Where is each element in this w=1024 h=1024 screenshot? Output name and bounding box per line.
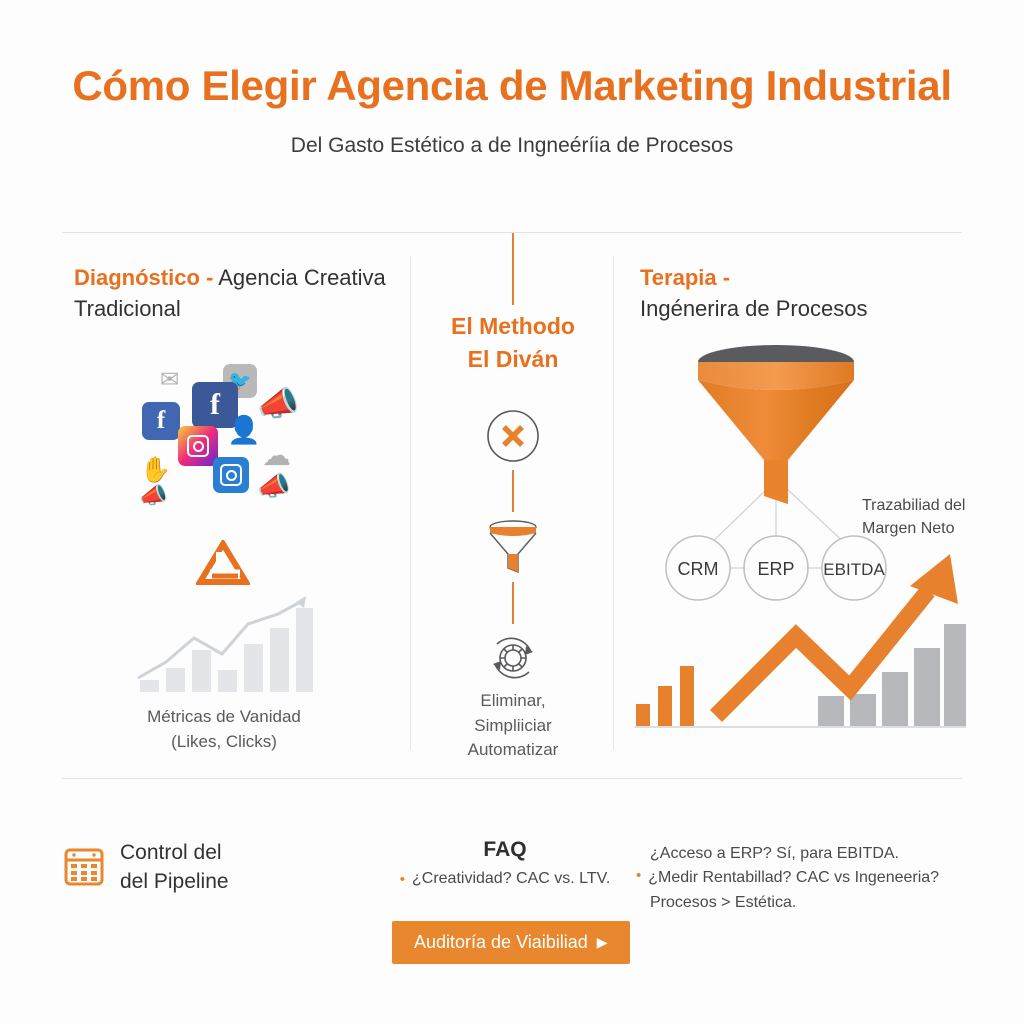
play-arrow-icon: ▶ — [597, 934, 608, 951]
column-terapia: Terapia - Ingénerira de Procesos — [640, 262, 970, 324]
mid-caption-line1: Eliminar, — [480, 691, 545, 710]
pipeline-label: Control del del Pipeline — [120, 838, 229, 897]
method-step-stack — [424, 408, 602, 686]
column-right-heading-rest: Ingénerira de Procesos — [640, 296, 867, 321]
faq-right-text-1: ¿Acceso a ERP? Sí, para EBITDA. — [650, 842, 899, 866]
simplify-step — [424, 518, 602, 576]
column-mid-heading-line2: El Diván — [468, 346, 559, 372]
header: Cómo Elegir Agencia de Marketing Industr… — [62, 60, 962, 158]
delta-triangle-logo — [196, 540, 250, 591]
pipeline-line1: Control del — [120, 841, 222, 864]
process-funnel-diagram: CRM ERP EBITDA — [628, 336, 968, 761]
left-column-caption: Métricas de Vanidad (Likes, Clicks) — [74, 705, 374, 754]
column-right-heading: Terapia - Ingénerira de Procesos — [640, 262, 970, 324]
funnel-icon — [482, 518, 544, 576]
traceability-label: Trazabiliad del Margen Neto — [862, 494, 992, 540]
megaphone-icon-3: 📣 — [139, 482, 168, 509]
social-icon-cloud: ✉ 🐦 f f 📣 👤 ☁ ✋ 📣 📣 — [130, 360, 325, 525]
instagram-icon-gradient — [178, 426, 218, 466]
page-title: Cómo Elegir Agencia de Marketing Industr… — [62, 60, 962, 112]
column-metodo: El Methodo El Diván — [424, 262, 602, 375]
infographic-canvas: Cómo Elegir Agencia de Marketing Industr… — [0, 0, 1024, 1024]
mid-caption-line2: Simpliiciar — [474, 716, 551, 735]
faq-right-text-3: Procesos > Estética. — [650, 891, 796, 915]
column-mid-heading-line1: El Methodo — [451, 313, 575, 339]
automate-step — [424, 630, 602, 686]
mid-caption-line3: Automatizar — [468, 740, 559, 759]
vanity-metrics-chart — [136, 592, 316, 697]
faq-item-text: ¿Creatividad? CAC vs. LTV. — [412, 870, 610, 890]
faq-right-text-2: ¿Medir Rentabillad? CAC vs Ingeneeria? — [648, 866, 939, 890]
faq-title: FAQ — [380, 838, 630, 862]
facebook-icon-small: f — [142, 402, 180, 440]
left-caption-line2: (Likes, Clicks) — [171, 732, 277, 751]
column-left-heading: Diagnóstico - Agencia Creativa Tradicion… — [74, 262, 394, 324]
faq-right-line-1: ¿Acceso a ERP? Sí, para EBITDA. — [636, 842, 972, 866]
hand-icon: ✋ — [140, 456, 171, 485]
column-divider-right — [613, 256, 614, 750]
faq-item: • ¿Creatividad? CAC vs. LTV. — [380, 870, 630, 890]
column-divider-left — [410, 256, 411, 750]
bullet-icon: • — [400, 870, 405, 890]
column-right-heading-accent: Terapia - — [640, 265, 730, 290]
cloud-icon: ☁ — [262, 438, 291, 473]
mid-column-caption: Eliminar, Simpliiciar Automatizar — [424, 689, 602, 763]
eliminate-step — [424, 408, 602, 464]
bottom-divider — [62, 778, 962, 779]
bullet-icon-2: • — [636, 866, 641, 890]
faq-right-block: ¿Acceso a ERP? Sí, para EBITDA. • ¿Medir… — [636, 842, 972, 915]
x-circle-icon — [485, 408, 541, 464]
gear-refresh-icon — [485, 630, 541, 686]
cta-label: Auditoría de Viaibiliad — [414, 932, 588, 953]
trace-label-line1: Trazabiliad del — [862, 497, 965, 514]
node-crm-label: CRM — [678, 559, 719, 579]
pipeline-control-block: Control del del Pipeline — [64, 838, 229, 897]
megaphone-icon: 📣 — [257, 384, 299, 424]
instagram-icon-blue — [213, 457, 249, 493]
mail-icon: ✉ — [160, 366, 179, 393]
person-icon: 👤 — [227, 414, 261, 446]
faq-right-line-2: • ¿Medir Rentabillad? CAC vs Ingeneeria? — [636, 866, 972, 890]
step-connector-1 — [512, 470, 514, 512]
node-ebitda-label: EBITDA — [823, 560, 885, 579]
faq-right-line-3: Procesos > Estética. — [636, 891, 972, 915]
column-diagnostico: Diagnóstico - Agencia Creativa Tradicion… — [74, 262, 394, 324]
left-caption-line1: Métricas de Vanidad — [147, 707, 301, 726]
faq-block: FAQ • ¿Creatividad? CAC vs. LTV. — [380, 838, 630, 890]
trace-label-line2: Margen Neto — [862, 520, 955, 537]
page-subtitle: Del Gasto Estético a de Ingneéríia de Pr… — [62, 134, 962, 158]
pipeline-line2: del Pipeline — [120, 870, 229, 893]
node-erp-label: ERP — [757, 559, 794, 579]
megaphone-icon-2: 📣 — [257, 470, 291, 502]
audit-cta-button[interactable]: Auditoría de Viaibiliad ▶ — [392, 921, 630, 964]
step-connector-2 — [512, 582, 514, 624]
column-mid-heading: El Methodo El Diván — [424, 310, 602, 375]
column-left-heading-accent: Diagnóstico - — [74, 265, 213, 290]
calendar-grid-icon — [64, 847, 104, 887]
